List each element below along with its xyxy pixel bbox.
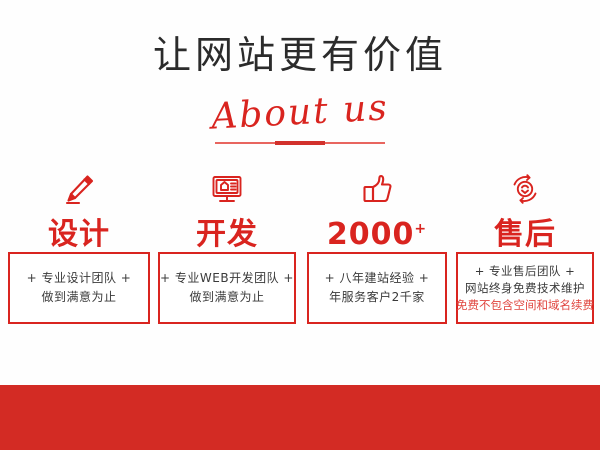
column-heading: 设计 — [8, 206, 150, 252]
section-header: 让网站更有价值 About us — [0, 0, 600, 160]
info-box: + 专业设计团队 + 做到满意为止 — [8, 252, 150, 324]
column-heading-text: 2000 — [327, 217, 415, 252]
column-heading-sup: + — [414, 221, 427, 237]
info-note: 免费不包含空间和域名续费 — [456, 297, 594, 314]
feature-columns: 设计 + 专业设计团队 + 做到满意为止 — [0, 160, 600, 345]
page-title: 让网站更有价值 — [0, 33, 600, 77]
info-box: + 八年建站经验 + 年服务客户2千家 — [307, 252, 447, 324]
info-line: 年服务客户2千家 — [329, 288, 425, 307]
support-headset-icon — [456, 160, 594, 206]
info-box: + 专业WEB开发团队 + 做到满意为止 — [158, 252, 296, 324]
info-box: + 专业售后团队 + 网站终身免费技术维护 免费不包含空间和域名续费 — [456, 252, 594, 324]
monitor-code-icon — [158, 160, 296, 206]
feature-column-design[interactable]: 设计 + 专业设计团队 + 做到满意为止 — [8, 160, 150, 345]
info-line: 做到满意为止 — [41, 288, 116, 307]
script-subtitle: About us — [0, 76, 600, 149]
column-heading-text: 设计 — [48, 217, 110, 252]
bottom-red-band — [0, 385, 600, 450]
info-line: + 专业售后团队 + — [475, 263, 576, 280]
column-heading: 售后 — [456, 206, 594, 252]
column-heading-text: 售后 — [494, 217, 556, 252]
info-line: 做到满意为止 — [189, 288, 264, 307]
info-line: 网站终身免费技术维护 — [465, 280, 585, 297]
divider-center-accent — [275, 141, 325, 145]
about-us-section: 让网站更有价值 About us — [0, 0, 600, 450]
feature-column-development[interactable]: 开发 + 专业WEB开发团队 + 做到满意为止 — [158, 160, 296, 345]
section-divider — [215, 142, 385, 144]
column-heading-text: 开发 — [196, 217, 258, 252]
info-line: + 专业设计团队 + — [27, 269, 132, 288]
column-heading: 开发 — [158, 206, 296, 252]
info-line: + 专业WEB开发团队 + — [160, 269, 294, 288]
pencil-icon — [8, 160, 150, 206]
feature-column-clients[interactable]: 2000+ + 八年建站经验 + 年服务客户2千家 — [307, 160, 447, 345]
column-heading: 2000+ — [307, 206, 447, 252]
thumbs-up-icon — [307, 160, 447, 206]
feature-column-aftersales[interactable]: 售后 + 专业售后团队 + 网站终身免费技术维护 免费不包含空间和域名续费 — [456, 160, 594, 345]
info-line: + 八年建站经验 + — [325, 269, 430, 288]
